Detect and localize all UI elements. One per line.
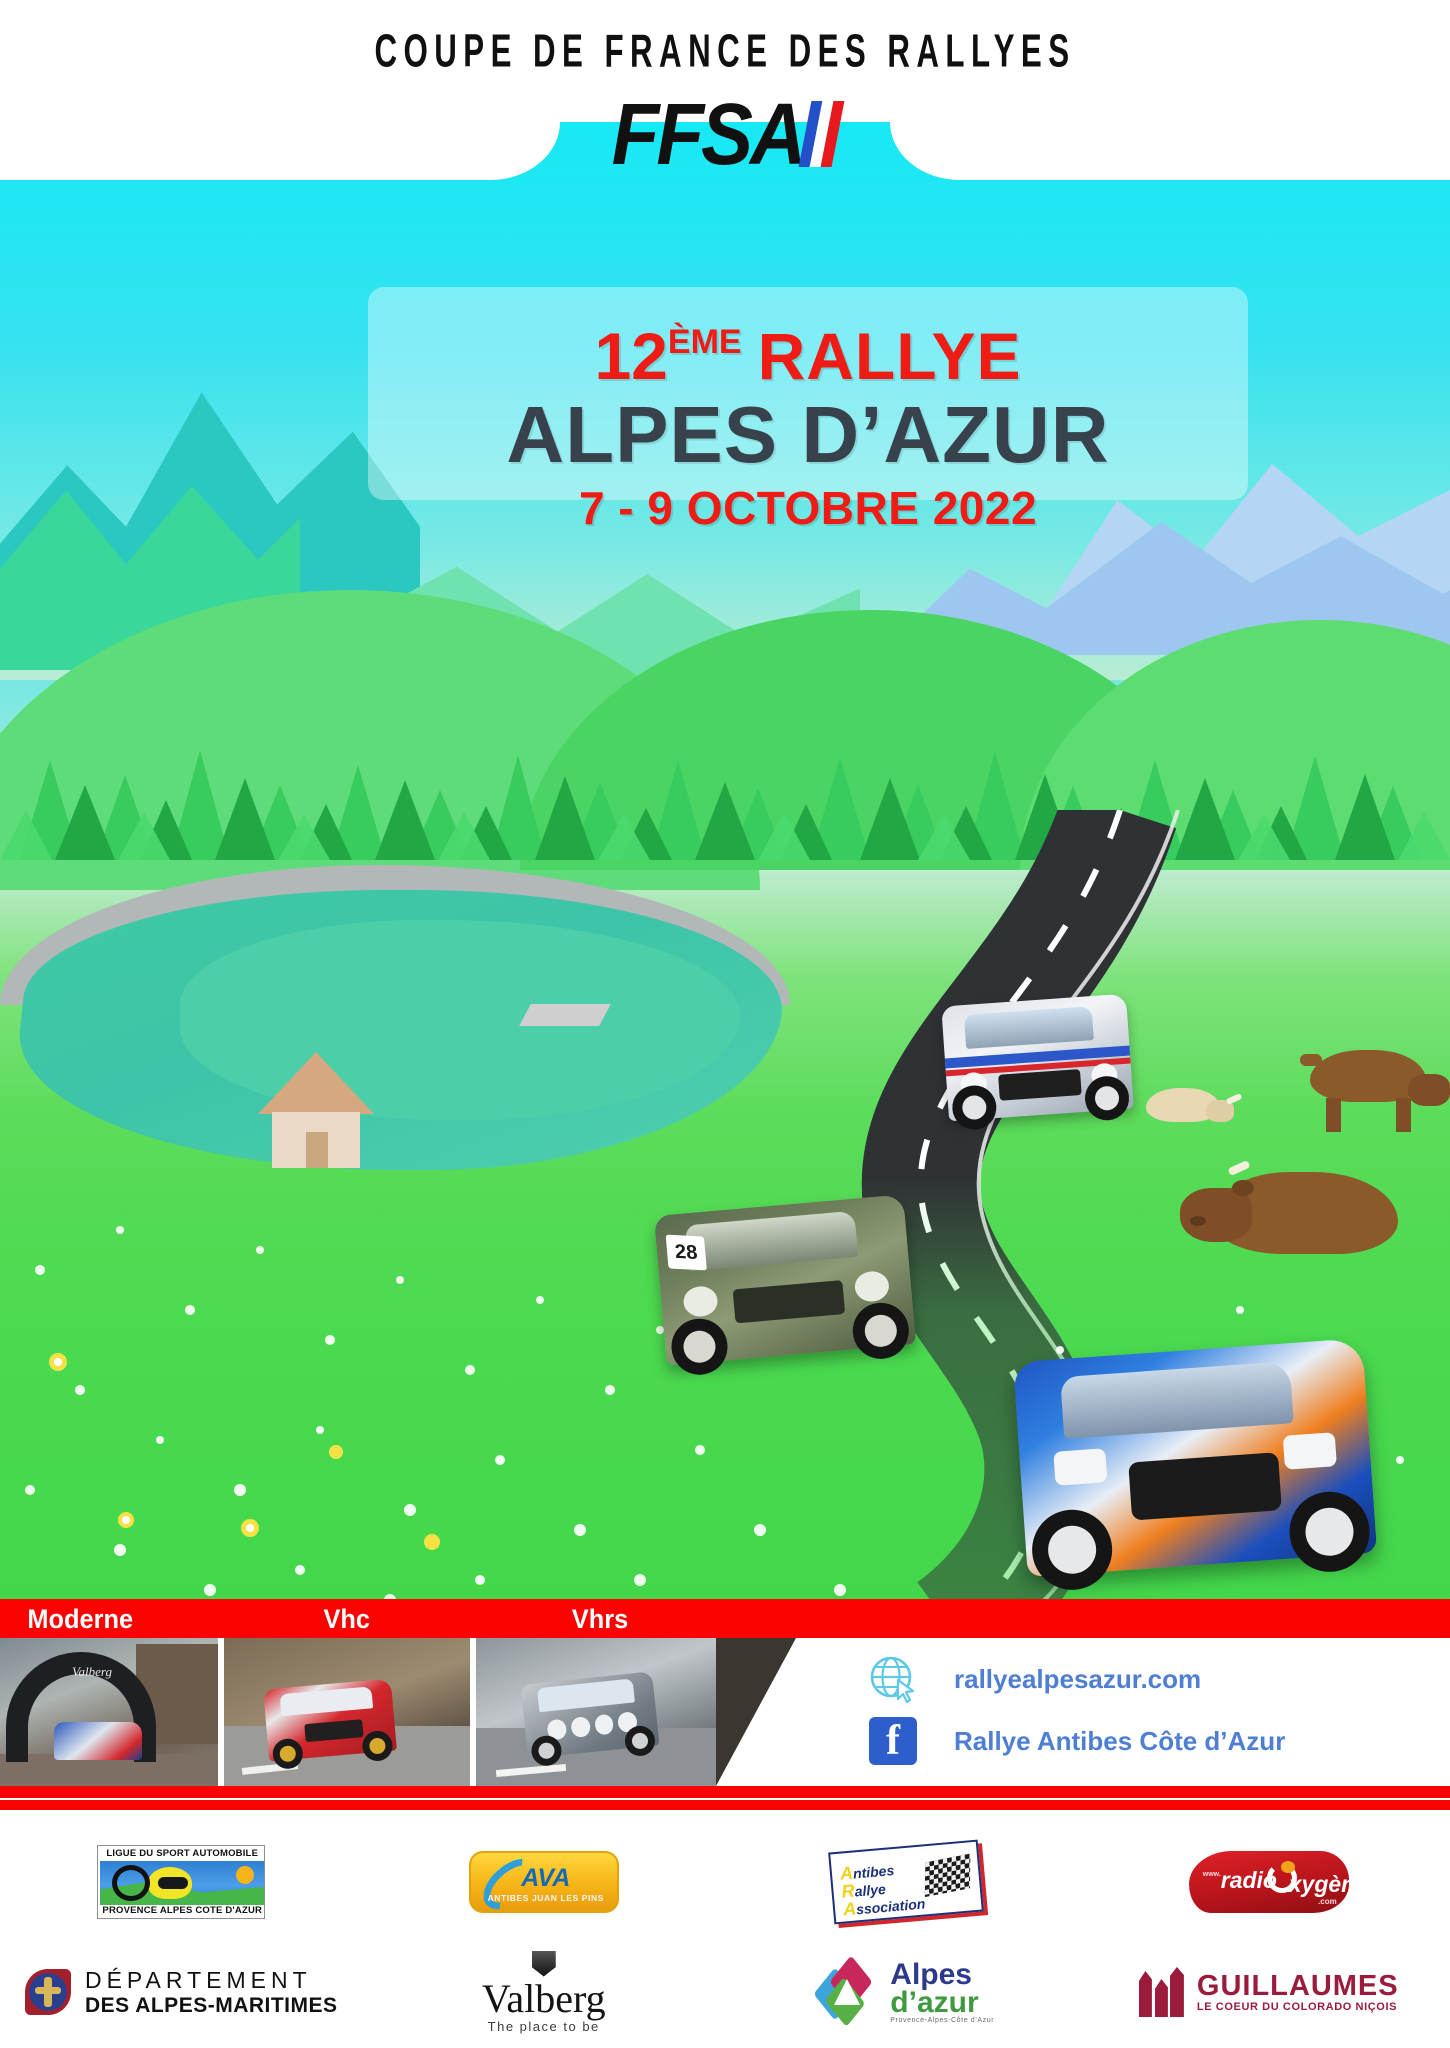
- windshield: [537, 1678, 635, 1712]
- rally-car-vhc-green: 28: [654, 1194, 916, 1365]
- arch-sponsor-label: Valberg: [52, 1664, 132, 1680]
- rally-car-vhrs-white: [941, 994, 1134, 1122]
- edition-number: 12: [594, 319, 667, 393]
- event-dates: 7 - 9 OCTOBRE 2022: [368, 481, 1248, 535]
- sponsor-valberg: Valberg The place to be: [363, 1936, 726, 2048]
- grille: [733, 1280, 846, 1323]
- guillaumes-logo: GUILLAUMES LE COEUR DU COLORADO NIÇOIS: [1139, 1967, 1399, 2017]
- sponsor-ava: AVA ANTIBES JUAN LES PINS: [363, 1826, 726, 1938]
- sponsor-alpes-dazur: Alpes d’azur Provence-Alpes-Côte d’Azur: [725, 1936, 1088, 2048]
- facebook-icon[interactable]: f: [860, 1717, 926, 1765]
- alpes-dazur-word-2: d’azur: [890, 1989, 994, 2017]
- facebook-row[interactable]: f Rallye Antibes Côte d’Azur: [860, 1710, 1285, 1772]
- rox-word-oxygene: xygène: [1289, 1871, 1368, 1898]
- photo-vhc: [224, 1638, 470, 1786]
- coupe-de-france-title: COUPE DE FRANCE DES RALLYES: [58, 26, 1392, 79]
- ava-brand: AVA: [471, 1864, 621, 1893]
- lsa-top-text: LIGUE DU SPORT AUTOMOBILE: [98, 1848, 266, 1859]
- category-vhrs: Vhrs: [572, 1604, 628, 1635]
- photo-modern-car: [54, 1722, 142, 1760]
- rally-car-modern: [1013, 1338, 1377, 1577]
- sponsor-row-2: DÉPARTEMENT DES ALPES-MARITIMES Valberg …: [0, 1936, 1450, 2048]
- sponsor-guillaumes: GUILLAUMES LE COEUR DU COLORADO NIÇOIS: [1088, 1936, 1450, 2048]
- car-number-vhc: 28: [666, 1235, 707, 1271]
- valberg-crest-icon: [532, 1951, 556, 1977]
- ara-logo: Antibes Rallye Association: [828, 1840, 984, 1925]
- category-vhc: Vhc: [323, 1604, 370, 1635]
- event-word: RALLYE: [758, 319, 1022, 393]
- ava-subtitle: ANTIBES JUAN LES PINS: [471, 1893, 621, 1903]
- grille: [998, 1069, 1082, 1101]
- grille: [304, 1719, 363, 1742]
- facebook-page-name[interactable]: Rallye Antibes Côte d’Azur: [954, 1726, 1285, 1757]
- rally-poster: 28 12ÈMERALLYE ALPES D’AZUR 7 - 9 OCTOBR…: [0, 0, 1450, 2048]
- sponsor-radio-oxygene: www. radio xygène .com: [1088, 1826, 1450, 1938]
- alpes-dazur-logo: Alpes d’azur Provence-Alpes-Côte d’Azur: [818, 1961, 994, 2024]
- website-row[interactable]: rallyealpesazur.com: [860, 1648, 1285, 1710]
- globe-cursor-icon: [860, 1653, 926, 1705]
- headlight-left: [1053, 1448, 1107, 1486]
- valberg-logo: Valberg The place to be: [482, 1951, 606, 2034]
- departement-line-2: DES ALPES-MARITIMES: [85, 1994, 338, 2018]
- radio-oxygene-logo: www. radio xygène .com: [1189, 1851, 1349, 1913]
- event-name: ALPES D’AZUR: [368, 393, 1248, 477]
- headlight-right: [854, 1270, 890, 1303]
- title-block: 12ÈMERALLYE ALPES D’AZUR 7 - 9 OCTOBRE 2…: [368, 287, 1248, 500]
- photo-vhrs: [476, 1638, 716, 1786]
- category-bar: Moderne Vhc Vhrs: [0, 1599, 1450, 1638]
- ffsa-logo: FFSA: [0, 96, 1450, 172]
- rox-domain: .com: [1318, 1897, 1337, 1906]
- lsa-bottom-text: PROVENCE ALPES COTE D'AZUR: [98, 1905, 266, 1916]
- red-divider-top: [0, 1786, 1450, 1798]
- photo-strip-dark-wedge: [716, 1638, 796, 1786]
- sponsor-section: LIGUE DU SPORT AUTOMOBILE PROVENCE ALPES…: [0, 1812, 1450, 2048]
- lsa-artwork: [100, 1861, 264, 1905]
- cow-small-beige: [1140, 1080, 1236, 1136]
- event-edition-line: 12ÈMERALLYE: [368, 305, 1248, 393]
- headlight-left: [682, 1285, 718, 1318]
- lsa-logo: LIGUE DU SPORT AUTOMOBILE PROVENCE ALPES…: [97, 1845, 265, 1919]
- windshield: [964, 1006, 1094, 1049]
- departement-crest-icon: [25, 1969, 71, 2015]
- sponsor-ligue-sport-automobile: LIGUE DU SPORT AUTOMOBILE PROVENCE ALPES…: [0, 1826, 363, 1938]
- valberg-brand: Valberg: [482, 1979, 606, 2019]
- ffsa-logo-text: FFSA: [612, 83, 804, 185]
- facebook-glyph: f: [869, 1717, 917, 1765]
- edition-ordinal: ÈME: [668, 323, 742, 361]
- contact-block: rallyealpesazur.com f Rallye Antibes Côt…: [860, 1648, 1285, 1772]
- alpes-dazur-subtitle: Provence-Alpes-Côte d’Azur: [890, 2017, 994, 2024]
- sponsor-row-1: LIGUE DU SPORT AUTOMOBILE PROVENCE ALPES…: [0, 1826, 1450, 1938]
- grille: [1128, 1452, 1282, 1520]
- valberg-tagline: The place to be: [482, 2019, 606, 2034]
- auxiliary-lamps: [546, 1711, 638, 1740]
- red-divider-bottom: [0, 1800, 1450, 1810]
- rox-www: www.: [1203, 1871, 1221, 1878]
- sponsor-departement-alpes-maritimes: DÉPARTEMENT DES ALPES-MARITIMES: [0, 1936, 363, 2048]
- cow-standing-brown: [1300, 1040, 1450, 1132]
- alpes-dazur-mark-icon: [818, 1965, 880, 2019]
- departement-line-1: DÉPARTEMENT: [85, 1967, 338, 1994]
- alpes-dazur-word-1: Alpes: [890, 1961, 994, 1989]
- cow-lying-brown: [1180, 1146, 1410, 1264]
- french-flag-icon: [799, 101, 845, 167]
- checkered-flag-icon: [925, 1854, 971, 1898]
- category-moderne: Moderne: [27, 1604, 133, 1635]
- guillaumes-brand: GUILLAUMES: [1197, 1971, 1399, 2001]
- windshield: [685, 1211, 858, 1272]
- windshield: [280, 1686, 374, 1716]
- photo-grey-classic-car: [520, 1671, 659, 1758]
- windshield: [1060, 1361, 1294, 1439]
- headlight-right: [1283, 1432, 1337, 1470]
- photo-red-classic-car: [263, 1679, 397, 1762]
- guillaumes-rocks-icon: [1139, 1967, 1185, 2017]
- ava-logo: AVA ANTIBES JUAN LES PINS: [469, 1851, 619, 1913]
- sponsor-antibes-rallye-association: Antibes Rallye Association: [725, 1826, 1088, 1938]
- guillaumes-tagline: LE COEUR DU COLORADO NIÇOIS: [1197, 2001, 1399, 2013]
- photo-moderne: Valberg: [0, 1638, 218, 1786]
- departement-logo: DÉPARTEMENT DES ALPES-MARITIMES: [25, 1967, 338, 2018]
- website-url[interactable]: rallyealpesazur.com: [954, 1664, 1201, 1695]
